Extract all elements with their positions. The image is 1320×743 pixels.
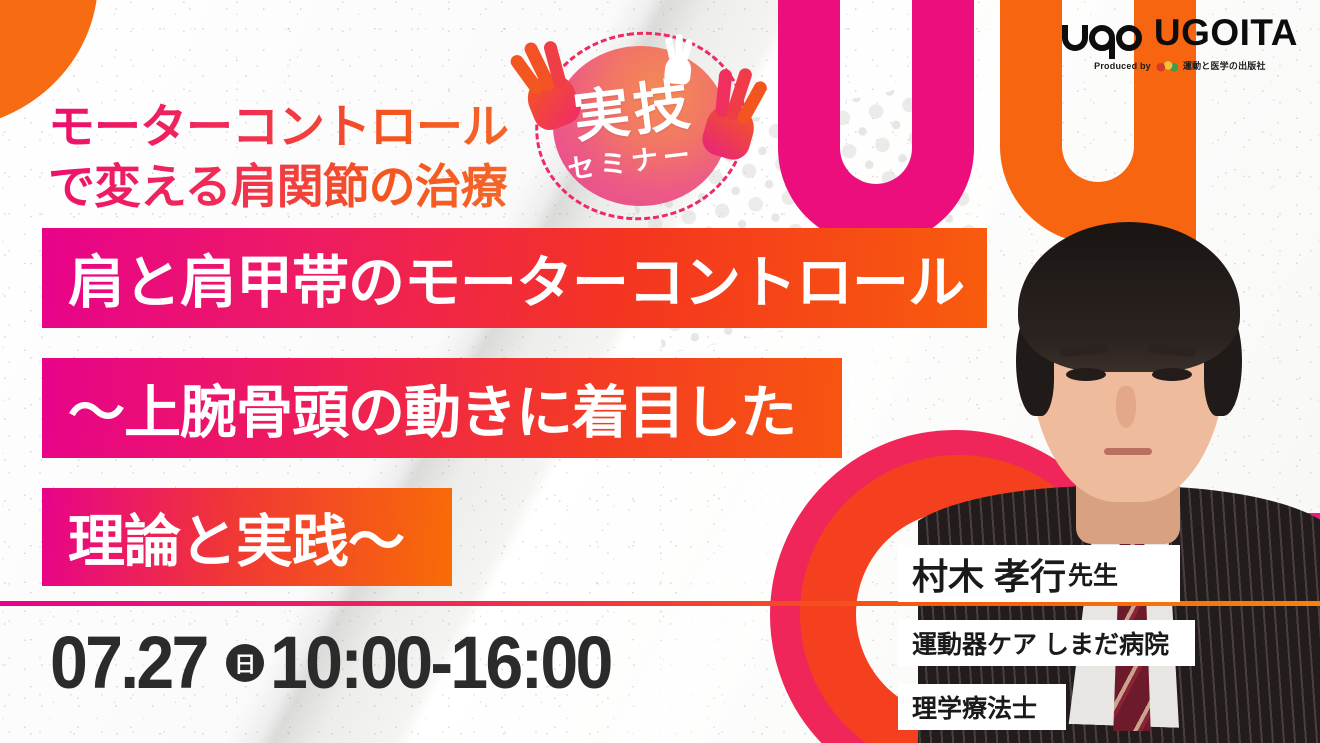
produced-by-label: Produced by xyxy=(1094,61,1151,71)
presenter-organization-box: 運動器ケア しまだ病院 xyxy=(898,620,1195,666)
event-date: 07.27 xyxy=(50,620,207,705)
presenter-nose xyxy=(1116,386,1136,428)
presenter-eye-right xyxy=(1152,368,1192,381)
title-bar-2: 〜上腕骨頭の動きに着目した xyxy=(42,358,842,458)
publisher-mascot-icon xyxy=(1156,60,1178,72)
title-bar-1-text: 肩と肩甲帯のモーターコントロール xyxy=(68,237,964,319)
seminar-banner: UGOITA Produced by 運動と医学の出版社 モーターコントロール … xyxy=(0,0,1320,743)
practical-seminar-badge: 実技 セミナー xyxy=(527,28,779,224)
headline: モーターコントロール で変える肩関節の治療 xyxy=(48,97,508,217)
title-bar-3: 理論と実践〜 xyxy=(42,488,452,586)
presenter-name-box: 村木 孝行先生 xyxy=(898,545,1180,602)
presenter-mouth xyxy=(1104,448,1152,455)
brand-wordmark: UGOITA xyxy=(1154,14,1298,51)
schedule-row: 07.27 日 10:00-16:00 xyxy=(50,620,640,705)
presenter-hair xyxy=(1018,222,1240,372)
brand-produced-by: Produced by 運動と医学の出版社 xyxy=(1062,59,1298,72)
presenter-role: 理学療法士 xyxy=(912,689,1037,725)
ugo-logo-mark-icon xyxy=(1062,12,1142,52)
day-of-week-badge: 日 xyxy=(226,644,264,682)
presenter-name-suffix: 先生 xyxy=(1068,556,1118,592)
publisher-name: 運動と医学の出版社 xyxy=(1183,59,1266,72)
title-bar-3-text: 理論と実践〜 xyxy=(68,496,404,578)
presenter-organization: 運動器ケア しまだ病院 xyxy=(912,625,1169,661)
brand-logo: UGOITA Produced by 運動と医学の出版社 xyxy=(1062,12,1298,72)
title-bar-1: 肩と肩甲帯のモーターコントロール xyxy=(42,228,987,328)
event-time: 10:00-16:00 xyxy=(270,620,611,705)
title-bar-2-text: 〜上腕骨頭の動きに着目した xyxy=(68,367,796,449)
presenter-role-box: 理学療法士 xyxy=(898,684,1066,730)
brand-logo-row: UGOITA xyxy=(1062,12,1298,52)
presenter-name: 村木 孝行 xyxy=(912,548,1066,600)
presenter-eye-left xyxy=(1066,368,1106,381)
